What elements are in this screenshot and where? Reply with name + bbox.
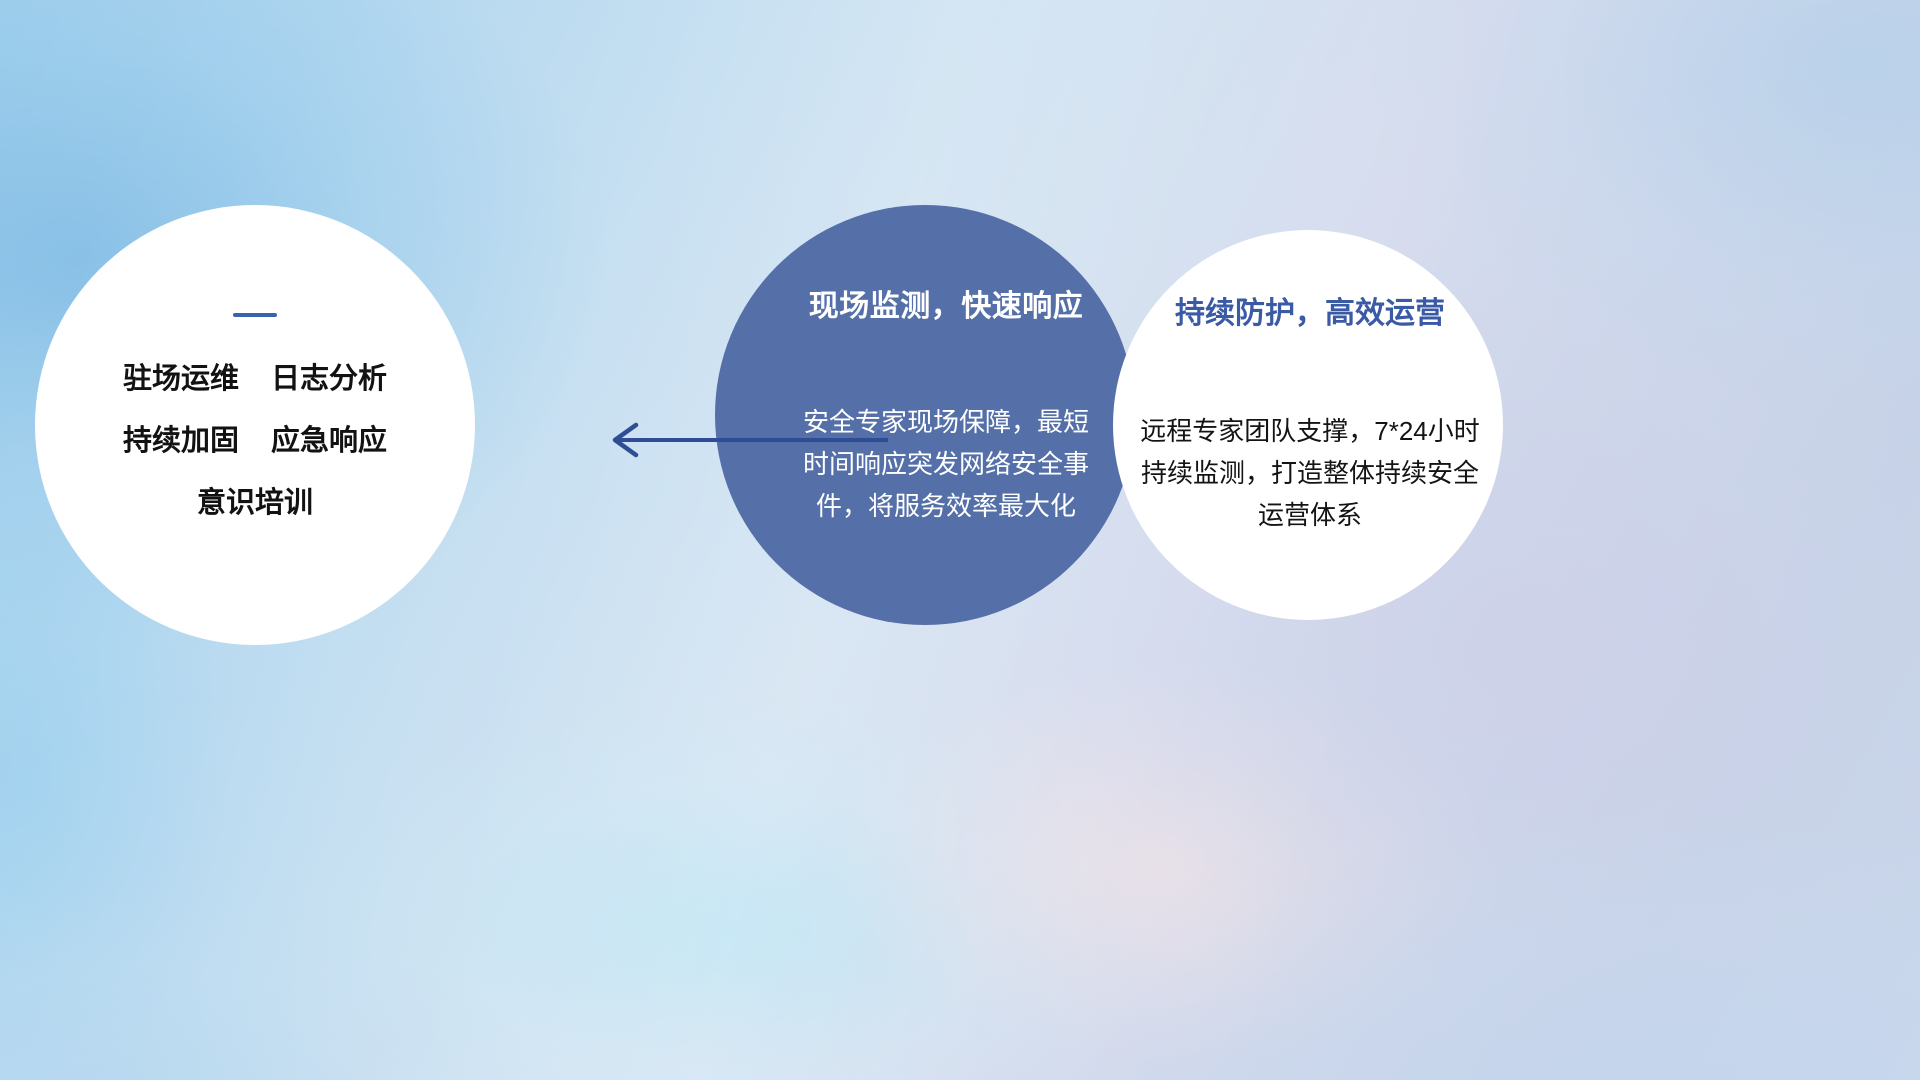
capability-tag-row: 持续加固 应急响应 <box>35 427 475 456</box>
arrow-left-icon <box>600 415 890 465</box>
middle-circle-title: 现场监测，快速响应 <box>763 281 1129 325</box>
capability-circle-middle-content: 现场监测，快速响应 安全专家现场保障，最短时间响应突发网络安全事件，将服务效率最… <box>763 281 1129 527</box>
divider-dash-icon <box>233 313 277 317</box>
right-circle-title: 持续防护，高效运营 <box>1125 288 1495 332</box>
capability-tag: 应急响应 <box>271 427 387 456</box>
capability-circle-right-content: 持续防护，高效运营 远程专家团队支撑，7*24小时持续监测，打造整体持续安全运营… <box>1125 288 1495 536</box>
right-circle-body: 远程专家团队支撑，7*24小时持续监测，打造整体持续安全运营体系 <box>1135 410 1485 536</box>
capability-tag: 持续加固 <box>123 427 239 456</box>
capability-tag: 日志分析 <box>271 365 387 394</box>
capability-circle-right[interactable]: 持续防护，高效运营 远程专家团队支撑，7*24小时持续监测，打造整体持续安全运营… <box>1113 230 1503 620</box>
connector-arrow <box>600 415 890 465</box>
capability-circle-left[interactable]: 驻场运维 日志分析 持续加固 应急响应 意识培训 <box>35 205 475 645</box>
capability-tag-list: 驻场运维 日志分析 持续加固 应急响应 意识培训 <box>35 365 475 518</box>
capability-tag-row: 驻场运维 日志分析 <box>35 365 475 394</box>
capability-tag: 意识培训 <box>197 489 313 518</box>
capability-tag-row: 意识培训 <box>35 489 475 518</box>
slide-canvas: 驻场运维 日志分析 持续加固 应急响应 意识培训 现场监测，快速响应 安全专家现… <box>0 0 1920 1080</box>
capability-tag: 驻场运维 <box>123 365 239 394</box>
capability-circle-left-content: 驻场运维 日志分析 持续加固 应急响应 意识培训 <box>35 313 475 551</box>
